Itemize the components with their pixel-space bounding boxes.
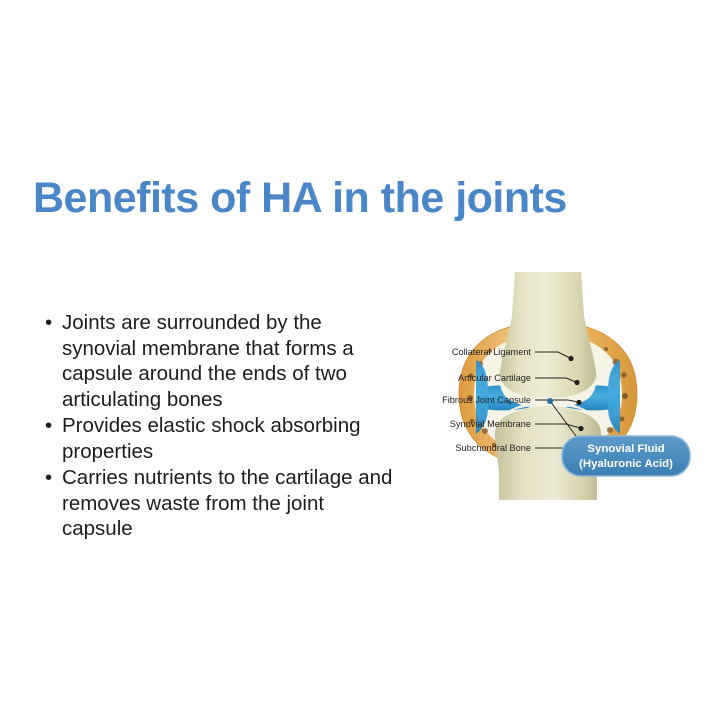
anatomy-label: Subchondral Bone	[455, 443, 531, 453]
bullet-list: • Joints are surrounded by the synovial …	[40, 310, 400, 543]
anatomy-label: Articular Cartilage	[458, 373, 531, 383]
list-item-text: Provides elastic shock absorbing propert…	[62, 414, 361, 463]
anatomy-label: Fibrous Joint Capsule	[442, 395, 531, 405]
list-item: • Joints are surrounded by the synovial …	[40, 310, 400, 412]
list-item: • Carries nutrients to the cartilage and…	[40, 465, 400, 542]
slide-canvas: Benefits of HA in the joints • Joints ar…	[0, 0, 720, 720]
list-item-text: Carries nutrients to the cartilage and r…	[62, 466, 392, 540]
synovial-joint-diagram: Collateral Ligament Articular Cartilage …	[398, 272, 698, 500]
callout-line-1: Synovial Fluid	[587, 443, 664, 455]
bullet-marker-icon: •	[45, 310, 52, 336]
upper-bone-shape	[500, 272, 597, 409]
callout-line-2: (Hyaluronic Acid)	[579, 458, 673, 470]
page-title: Benefits of HA in the joints	[33, 173, 633, 223]
anatomy-label: Collateral Ligament	[452, 347, 532, 357]
anatomy-label: Synovial Membrane	[450, 419, 531, 429]
list-item: • Provides elastic shock absorbing prope…	[40, 413, 400, 464]
list-item-text: Joints are surrounded by the synovial me…	[62, 311, 354, 411]
bullet-marker-icon: •	[45, 465, 52, 491]
callout-bubble	[562, 436, 690, 476]
bullet-marker-icon: •	[45, 413, 52, 439]
